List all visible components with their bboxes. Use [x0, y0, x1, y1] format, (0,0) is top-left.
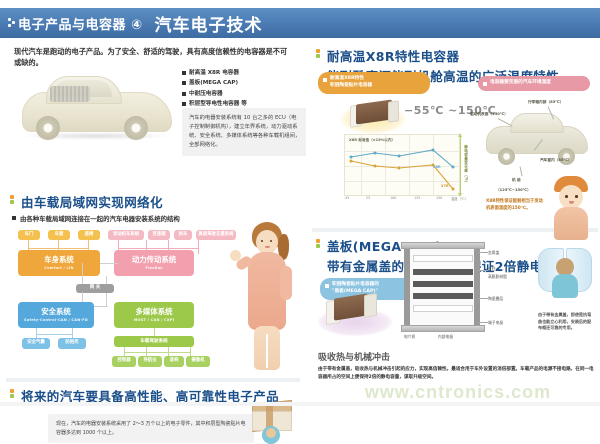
series-x8r-point	[432, 149, 435, 152]
mouth	[569, 201, 574, 204]
parcel-illustration	[246, 402, 302, 444]
leader-line	[478, 298, 488, 299]
list-item: 中耐压电容器	[182, 89, 298, 99]
network-diagram: 车门 车窗 座椅 发动机车系统 变速箱 刹车 高级驾驶支援系统 车身系统 Com…	[6, 228, 246, 376]
page-root: 电子产品与电容器 ④ 汽车电子技术 现代汽车是跑动的电子产品。为了安全、舒适的驾…	[0, 0, 600, 406]
connector	[124, 352, 190, 353]
left-column: 现代汽车是跑动的电子产品。为了安全、舒适的驾驶，具有高度信赖性的电容器是不可或缺…	[0, 42, 306, 406]
section-title: 耐高温X8R特性电容器	[327, 46, 600, 65]
absorb-heading: 吸收热与机械冲击	[318, 350, 390, 363]
tag-automotive-environment: 电容器要克服的汽车环境温度	[478, 76, 590, 91]
engineer-illustration	[548, 176, 598, 240]
car-wheel-front	[498, 148, 515, 165]
node-safety-system: 安全系统 Safety-Control-CAN / CAN-FD	[18, 302, 94, 328]
x-tick: 100	[390, 196, 396, 200]
ceramic-layer	[413, 293, 473, 299]
x-tick: 150	[436, 196, 442, 200]
series-label-x8r: X8R	[433, 165, 441, 169]
node-subtitle: MOST / CAN / CXPI	[134, 318, 175, 322]
delivery-person-face	[266, 428, 276, 438]
connector	[36, 334, 73, 335]
chip-door: 车门	[18, 230, 40, 240]
connector	[28, 248, 89, 249]
section-dots-icon	[316, 49, 322, 61]
leader-line	[478, 270, 488, 271]
list-item: 盖板(MEGA CAP)	[182, 78, 298, 88]
chip-adas: 高级驾驶支援系统	[196, 230, 236, 240]
lan-section-heading: 由车载局域网实现网络化	[8, 192, 311, 211]
car-engine-module	[50, 86, 90, 102]
connector	[154, 328, 155, 336]
torso	[554, 207, 588, 240]
callout-trunk: 行李箱内部（85℃）	[528, 100, 563, 105]
temperature-characteristics-chart: X8R 标准值（±15%以内） X8R X7R	[344, 134, 460, 196]
mega-cap-icon	[538, 248, 592, 310]
car-wheel-front	[36, 116, 60, 140]
node-powertrain-system: 动力传动系统 FlexRay	[114, 250, 194, 276]
callout-engine-bay-range: （125℃~150℃）	[496, 188, 531, 193]
chip-brake: 刹车	[174, 230, 192, 240]
car-wheel-rear	[124, 116, 148, 140]
node-body-system: 车身系统 Comfort / LIN	[18, 250, 100, 276]
label-terminal-electrode: 端子电极	[488, 320, 503, 326]
metal-cap-top	[401, 242, 485, 249]
label-dielectric: 电介质	[404, 334, 415, 340]
series-label-x7r: X7R	[441, 184, 449, 188]
capacitor-terminal-right	[388, 100, 399, 123]
x8r-guarantee-note: X8R特性保证能耐相当于发动机表面温度的150℃。	[486, 198, 544, 212]
node-title: 车身系统	[44, 256, 74, 264]
box-tape	[266, 402, 273, 429]
callout-engine-bay: 机 舱	[512, 178, 521, 183]
x-tick: -55	[344, 196, 349, 200]
connector	[190, 347, 191, 356]
section-title: 由车载局域网实现网络化	[21, 192, 311, 211]
connector	[198, 240, 199, 254]
car-ecu-note: 汽车的电器安装系统有 10 台之多的 ECU（电子控制制御机构），建立年界系统，…	[182, 108, 308, 156]
series-x8r-point	[350, 156, 353, 159]
terminal-electrode-right	[474, 249, 480, 325]
face	[559, 185, 583, 209]
resin-layer	[413, 255, 473, 262]
chip-transmission: 变速箱	[148, 230, 170, 240]
site-watermark: www.cntronics.com	[318, 382, 598, 403]
car-illustration	[16, 70, 176, 142]
node-multimedia-system: 多媒体系统 MOST / CAN / CXPI	[114, 302, 194, 328]
node-title: 动力传动系统	[132, 256, 176, 264]
chip-window: 车窗	[48, 230, 70, 240]
series-x8r-point	[374, 152, 377, 155]
label-ceramic-stack: 陶瓷叠层	[488, 296, 503, 302]
page-header: 电子产品与电容器 ④ 汽车电子技术	[0, 8, 600, 38]
page-title: 汽车电子技术	[155, 11, 263, 36]
series-x7r-point	[398, 167, 401, 170]
section-dots-icon	[10, 195, 16, 207]
future-body-text: 现在，汽车的电器安装系统采用了 2～3 万个以上的电子零件，其中积层型陶瓷贴片电…	[48, 414, 254, 443]
chip-camera: 摄像机	[186, 356, 210, 367]
absorb-body: 由于带有金属盖，吸收热与机械冲击引起的应力，实现高信赖性。最适合用于车外设置的消…	[318, 366, 594, 382]
connector	[100, 263, 118, 264]
ceramic-layer	[413, 269, 473, 275]
series-x7r-point	[452, 188, 455, 191]
label-metal-cap: 金属盖	[488, 250, 499, 256]
series-x7r-point	[350, 160, 353, 163]
lan-section-subheading: 由各种车载局域网连接在一起的汽车电器安装系统的结构	[12, 214, 180, 223]
chip-abs: 防抱死	[58, 338, 86, 349]
chip-engine-system: 发动机车系统	[108, 230, 144, 240]
connector	[36, 328, 37, 338]
presenter-illustration	[238, 222, 300, 374]
mega-cap-photo	[318, 290, 392, 338]
x-tick: 125	[414, 196, 420, 200]
node-subtitle: Safety-Control-CAN / CAN-FD	[24, 318, 88, 322]
chip-airbag: 安全气囊	[22, 338, 50, 349]
label-support: 支柱	[488, 266, 496, 272]
node-invehicle-driving-system: 车载驾驶系统	[114, 336, 194, 347]
metal-cap-bottom	[401, 325, 485, 332]
header-subtitle: 电子产品与电容器 ④	[18, 14, 143, 33]
list-item: 耐高温 X8R 电容器	[182, 68, 298, 78]
eye-left	[565, 195, 568, 198]
dielectric-layer	[413, 305, 473, 312]
connector	[118, 248, 199, 249]
y-axis-arrow-icon	[460, 136, 461, 194]
connector	[72, 328, 73, 338]
terminal-electrode-left	[404, 249, 410, 325]
chip-navigation: 导航仪	[138, 356, 162, 367]
callout-engine-surface: 驱动机表面（150℃）	[470, 112, 508, 117]
chip-seat: 座椅	[78, 230, 100, 240]
footer-line	[0, 402, 600, 406]
series-x7r-point	[374, 165, 377, 168]
label-resin: 高膨胀树脂	[488, 274, 507, 280]
x8r-capacitor-photo	[340, 96, 406, 136]
chip-audio: 音响	[164, 356, 184, 367]
ceramic-layer	[413, 281, 473, 287]
header-dots-icon	[8, 16, 16, 30]
leader-line	[478, 322, 488, 323]
arm-right	[280, 266, 292, 300]
product-bullet-list: 耐高温 X8R 电容器 盖板(MEGA CAP) 中耐压电容器 积层型导电性电容…	[182, 68, 298, 109]
chart-y-axis-label: 静电容量变化率（%）	[462, 136, 472, 194]
chip-controller: 控制器	[112, 356, 136, 367]
mega-cap-cross-section	[404, 244, 480, 330]
section-divider	[6, 378, 300, 382]
callout-cabin-interior: 汽车室内（85℃）	[540, 158, 572, 163]
leader-line	[478, 252, 488, 253]
hand-left	[230, 250, 241, 261]
mascot-body	[552, 274, 578, 298]
face	[256, 230, 278, 254]
mega-cap-note: 由于带有金属盖，即使是抗弯曲也能立心利用，安装后的配布框还可靠的专用。	[538, 312, 594, 332]
series-x8r-point	[398, 155, 401, 158]
car-cabin	[510, 113, 564, 133]
capacitor-terminal-right	[364, 293, 377, 318]
series-x8r-point	[452, 166, 455, 169]
node-subtitle: FlexRay	[145, 266, 162, 270]
intro-paragraph: 现代汽车是跑动的电子产品。为了安全、舒适的驾驶，具有高度信赖性的电容器是不可或缺…	[14, 46, 294, 68]
node-subtitle: Comfort / LIN	[44, 266, 73, 270]
section-dots-icon	[10, 389, 16, 401]
node-title: 安全系统	[41, 308, 71, 316]
x-tick: 25	[366, 196, 370, 200]
label-internal-electrode: 内部电极	[438, 334, 453, 340]
node-title: 多媒体系统	[136, 308, 173, 316]
leg-split	[266, 334, 268, 368]
chart-x-axis: -55 25 100 125 150 温度（℃）	[344, 196, 468, 204]
section-dots-icon	[316, 239, 322, 251]
tag-x8r-mlcc: 耐高温X8R特性 积层陶瓷贴片电容器	[318, 72, 430, 94]
eye-right	[575, 195, 578, 198]
